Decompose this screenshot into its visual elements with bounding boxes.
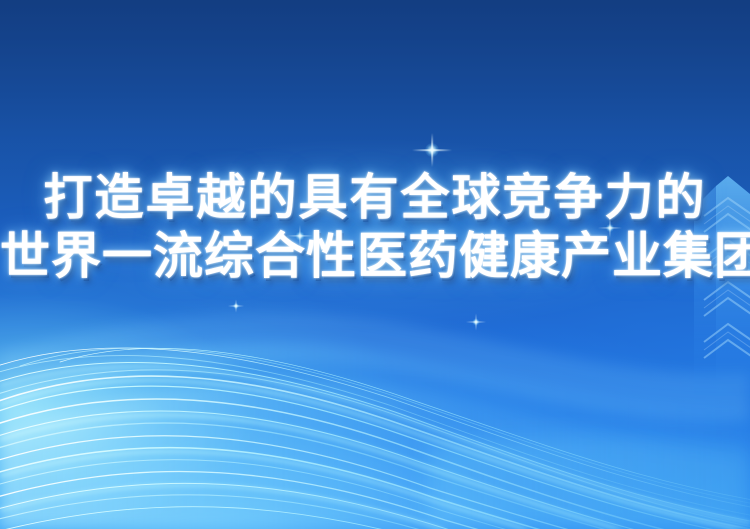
headline-line-2: 世界一流综合性医药健康产业集团 (0, 227, 750, 286)
sparkle-center-top-icon (412, 130, 452, 170)
sparkle-lower-center-icon (466, 312, 486, 332)
headline-line-1: 打造卓越的具有全球竞争力的 (0, 168, 750, 227)
sparkle-lower-left-icon (228, 298, 244, 314)
slogan-banner: 打造卓越的具有全球竞争力的 世界一流综合性医药健康产业集团 (0, 0, 750, 529)
headline-block: 打造卓越的具有全球竞争力的 世界一流综合性医药健康产业集团 (0, 168, 750, 286)
